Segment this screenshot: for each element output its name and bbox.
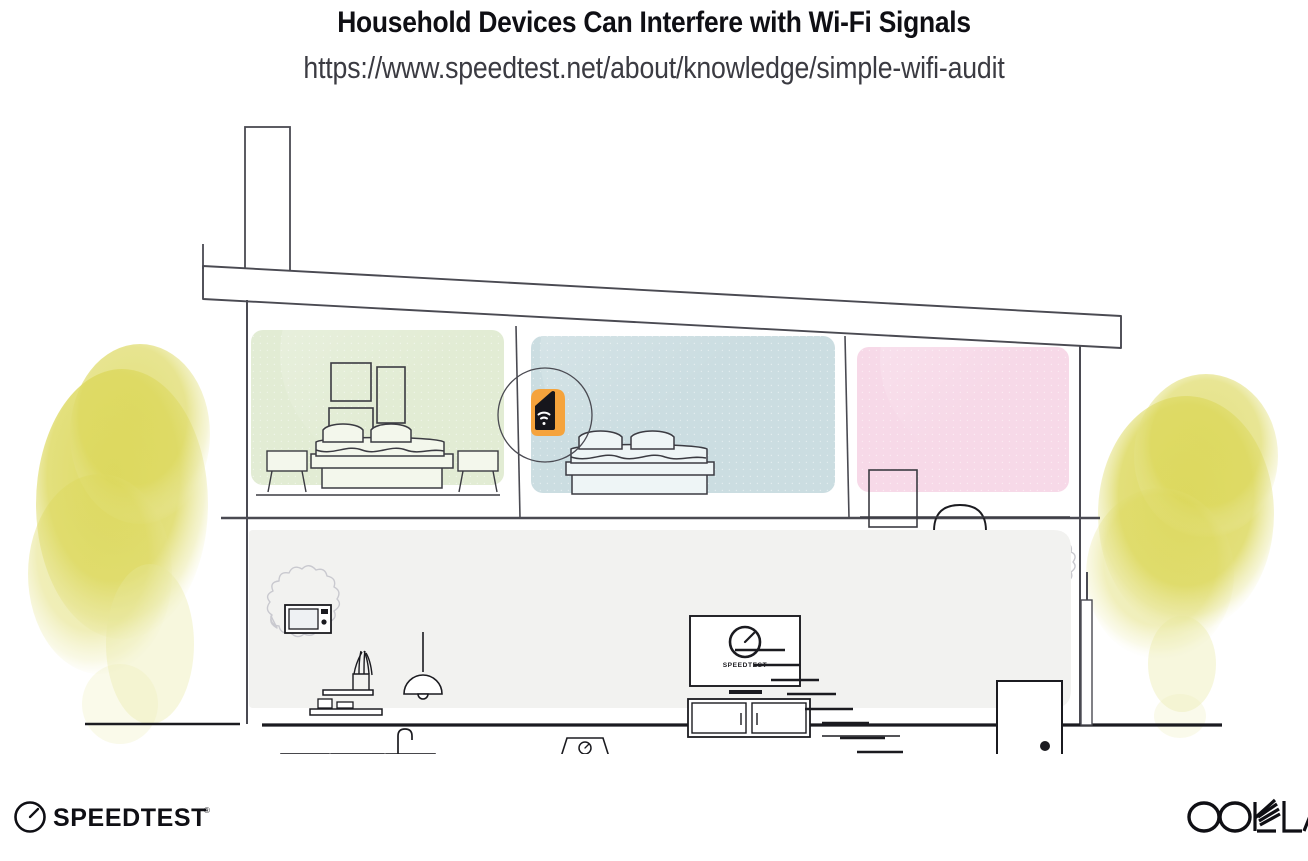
kitchen-sink-faucet <box>398 729 412 754</box>
laptop[interactable]: SPEEDTEST <box>554 738 616 754</box>
infographic-page: Household Devices Can Interfere with Wi-… <box>0 0 1308 861</box>
nightstand-left <box>267 451 307 492</box>
speedtest-trademark: ® <box>204 806 210 815</box>
front-door[interactable] <box>997 681 1062 754</box>
speedtest-gauge-icon <box>16 803 45 832</box>
ookla-logo: ® OOKLA <box>1185 790 1308 842</box>
television: SPEEDTEST <box>690 616 800 694</box>
ookla-k-letter <box>1255 800 1280 831</box>
room-bedroom-green <box>251 224 580 495</box>
speedtest-wordmark: SPEEDTEST <box>53 804 207 832</box>
tv-console <box>688 699 810 737</box>
speedtest-logo: SPEEDTEST ® <box>8 795 228 839</box>
door-knob[interactable] <box>1040 741 1050 751</box>
page-title: Household Devices Can Interfere with Wi-… <box>78 6 1229 40</box>
tree-right <box>1086 374 1278 738</box>
nightstand-right <box>458 451 498 492</box>
room-ground-floor: SPEEDTEST <box>249 530 1071 754</box>
ookla-la-letters <box>1284 801 1308 831</box>
house-cutaway-illustration: SPEEDTEST <box>0 104 1308 754</box>
chimney <box>245 127 290 274</box>
source-url: https://www.speedtest.net/about/knowledg… <box>92 50 1217 86</box>
wifi-router[interactable] <box>531 389 565 436</box>
tree-left <box>28 344 210 744</box>
